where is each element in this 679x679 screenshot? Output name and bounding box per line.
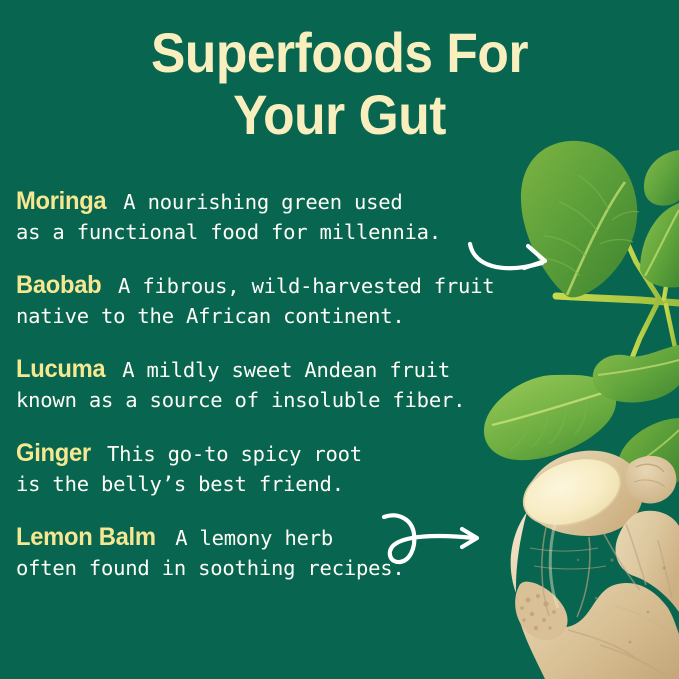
entry-line-2: often found in soothing recipes. [16,553,656,583]
title-line-2: Your Gut [27,84,652,146]
entry-line-2: native to the African continent. [16,301,656,331]
entry-description-part-1: A nourishing green used [123,190,402,214]
page-title: Superfoods For Your Gut [0,22,679,146]
title-line-1: Superfoods For [27,22,652,84]
list-item: Lemon Balm A lemony herb often found in … [16,522,656,583]
list-item: Baobab A fibrous, wild-harvested fruit n… [16,270,656,331]
entry-line-1: Baobab A fibrous, wild-harvested fruit [16,270,656,301]
superfood-name-moringa: Moringa [16,186,106,216]
entry-line-1: Ginger This go-to spicy root [16,438,656,469]
superfood-name-lemon-balm: Lemon Balm [16,522,156,552]
superfoods-poster: Superfoods For Your Gut Moringa A nouris… [0,0,679,679]
list-item: Ginger This go-to spicy root is the bell… [16,438,656,499]
entry-line-1: Lemon Balm A lemony herb [16,522,656,553]
list-item: Lucuma A mildly sweet Andean fruit known… [16,354,656,415]
superfood-name-baobab: Baobab [16,270,101,300]
entry-line-2: is the belly’s best friend. [16,469,656,499]
superfood-list: Moringa A nourishing green used as a fun… [16,186,656,583]
entry-line-2: known as a source of insoluble fiber. [16,385,656,415]
entry-line-1: Moringa A nourishing green used [16,186,656,217]
list-item: Moringa A nourishing green used as a fun… [16,186,656,247]
entry-description-part-1: A fibrous, wild-harvested fruit [118,274,494,298]
entry-line-1: Lucuma A mildly sweet Andean fruit [16,354,656,385]
superfood-name-ginger: Ginger [16,438,91,468]
superfood-name-lucuma: Lucuma [16,354,105,384]
entry-description-part-1: A mildly sweet Andean fruit [122,358,450,382]
entry-line-2: as a functional food for millennia. [16,217,656,247]
entry-description-part-1: This go-to spicy root [107,442,362,466]
entry-description-part-1: A lemony herb [175,526,333,550]
